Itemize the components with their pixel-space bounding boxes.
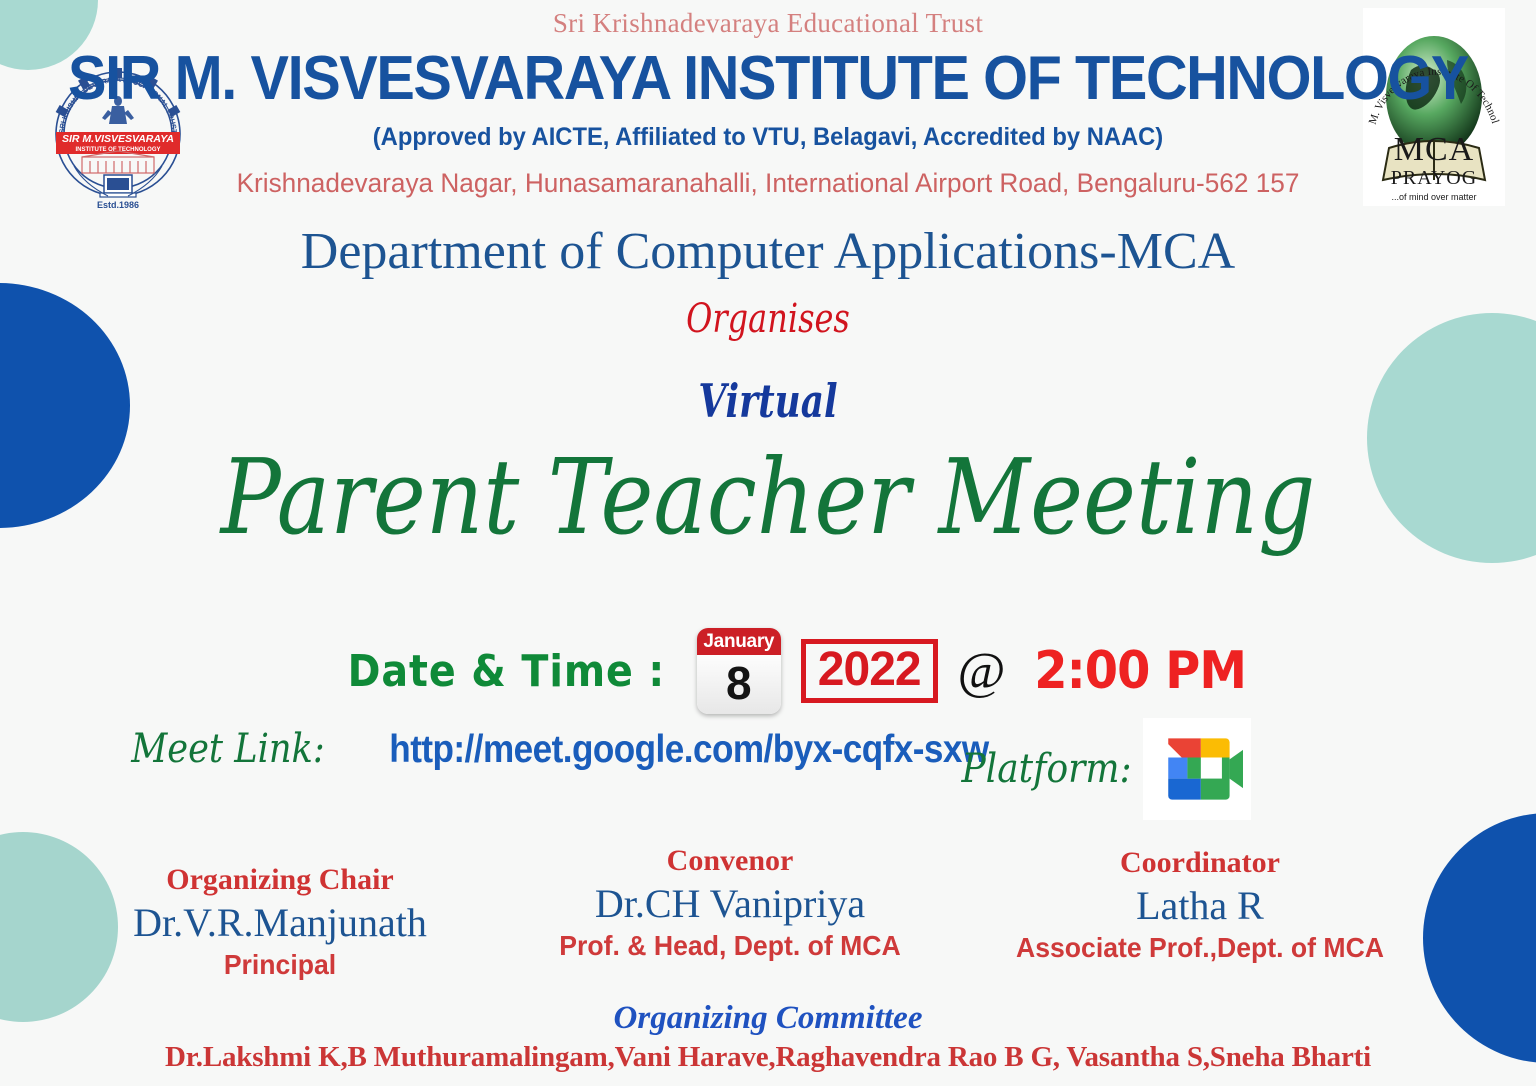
- accreditation-line: (Approved by AICTE, Affiliated to VTU, B…: [38, 123, 1497, 152]
- convenor-role: Convenor: [510, 843, 950, 879]
- meet-link-url[interactable]: http://meet.google.com/byx-cqfx-sxw: [389, 728, 988, 772]
- coordinator-name: Latha R: [970, 881, 1430, 931]
- calendar-day-number: 8: [697, 655, 781, 714]
- google-meet-icon: [1143, 718, 1251, 820]
- organizing-committee-names: Dr.Lakshmi K,B Muthuramalingam,Vani Hara…: [0, 1041, 1536, 1074]
- calendar-icon: January 8: [697, 628, 781, 714]
- department-title: Department of Computer Applications-MCA: [0, 222, 1536, 281]
- address-line: Krishnadevaraya Nagar, Hunasamaranahalli…: [23, 168, 1513, 199]
- event-mode-label: Virtual: [169, 374, 1367, 428]
- organises-text: Organises: [154, 296, 1383, 342]
- organizing-chair-role: Organizing Chair: [60, 862, 500, 898]
- convenor-designation: Prof. & Head, Dept. of MCA: [521, 929, 939, 963]
- organizing-chair-name: Dr.V.R.Manjunath: [60, 898, 500, 948]
- event-time: 2:00 PM: [1035, 641, 1247, 701]
- organizing-committee-title: Organizing Committee: [0, 1000, 1536, 1037]
- date-time-row: Date & Time : January 8 2022 @ 2:00 PM: [330, 626, 1256, 716]
- trust-name: Sri Krishnadevaraya Educational Trust: [0, 8, 1536, 39]
- platform-label: Platform:: [961, 746, 1131, 792]
- event-title: Parent Teacher Meeting: [108, 440, 1429, 554]
- convenor-name: Dr.CH Vanipriya: [510, 879, 950, 929]
- meet-link-row: Meet Link: http://meet.google.com/byx-cq…: [118, 726, 1022, 772]
- institute-name: SIR M. VISVESVARAYA INSTITUTE OF TECHNOL…: [54, 48, 1482, 110]
- calendar-month-label: January: [697, 628, 781, 655]
- year-stamp: 2022: [801, 639, 938, 703]
- meet-link-label: Meet Link:: [131, 726, 325, 772]
- poster-canvas: SRI KRISHNADEVARAYA EDUCATIONAL TRUST SI…: [0, 0, 1536, 1086]
- coordinator-designation: Associate Prof.,Dept. of MCA: [982, 931, 1419, 965]
- organizing-chair-designation: Principal: [71, 948, 489, 982]
- platform-row: Platform:: [952, 718, 1251, 820]
- organizing-chair-block: Organizing Chair Dr.V.R.Manjunath Princi…: [60, 862, 500, 982]
- coordinator-block: Coordinator Latha R Associate Prof.,Dept…: [970, 845, 1430, 965]
- svg-text:Estd.1986: Estd.1986: [97, 200, 139, 210]
- coordinator-role: Coordinator: [970, 845, 1430, 881]
- convenor-block: Convenor Dr.CH Vanipriya Prof. & Head, D…: [510, 843, 950, 963]
- date-time-label: Date & Time :: [348, 646, 666, 697]
- at-symbol: @: [958, 642, 1006, 701]
